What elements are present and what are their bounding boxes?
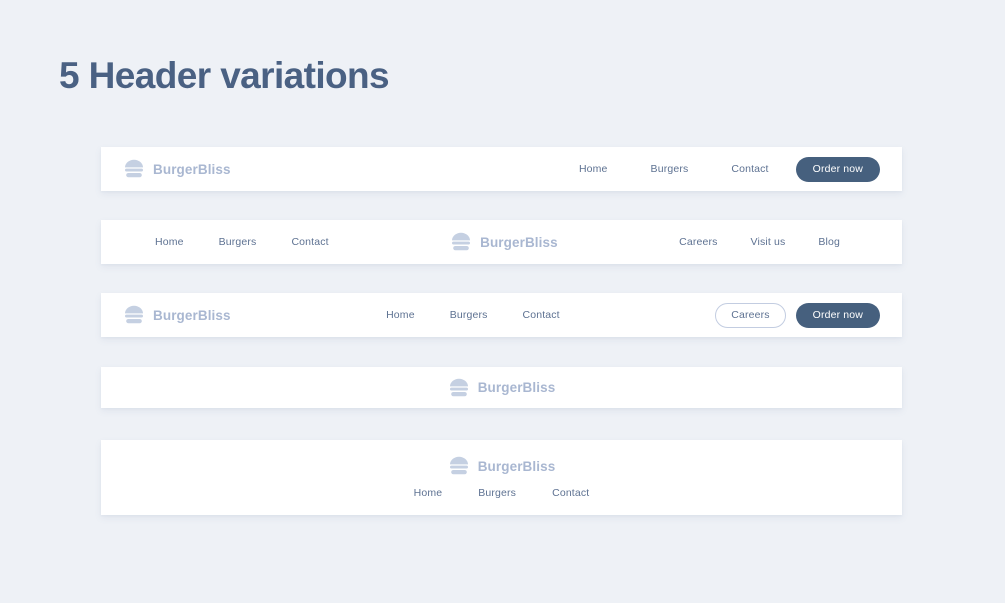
- brand-logo[interactable]: BurgerBliss: [448, 456, 556, 476]
- burger-icon: [448, 456, 470, 476]
- header-3-actions: Careers Order now: [715, 303, 880, 328]
- order-now-button[interactable]: Order now: [796, 303, 880, 328]
- nav-link-burgers[interactable]: Burgers: [219, 236, 257, 248]
- nav-link-burgers[interactable]: Burgers: [478, 487, 516, 499]
- brand-name: BurgerBliss: [153, 162, 231, 177]
- brand-logo[interactable]: BurgerBliss: [123, 305, 231, 325]
- nav-link-burgers[interactable]: Burgers: [651, 163, 689, 175]
- nav-link-contact[interactable]: Contact: [291, 236, 328, 248]
- header-4-row: BurgerBliss: [101, 367, 902, 408]
- nav-link-home[interactable]: Home: [414, 487, 443, 499]
- careers-button[interactable]: Careers: [715, 303, 785, 328]
- header-2-row: Home Burgers Contact BurgerBliss Careers…: [101, 220, 902, 264]
- nav-link-burgers[interactable]: Burgers: [450, 309, 488, 321]
- order-now-button[interactable]: Order now: [796, 157, 880, 182]
- nav-link-home[interactable]: Home: [579, 163, 608, 175]
- burger-icon: [123, 305, 145, 325]
- header-2-left-nav: Home Burgers Contact: [155, 236, 329, 248]
- brand-name: BurgerBliss: [478, 380, 556, 395]
- nav-link-contact[interactable]: Contact: [523, 309, 560, 321]
- page-root: 5 Header variations BurgerBliss Home Bur…: [0, 0, 1005, 603]
- header-2-right-nav: Careers Visit us Blog: [679, 236, 840, 248]
- nav-link-home[interactable]: Home: [155, 236, 184, 248]
- header-3-center-nav: Home Burgers Contact: [386, 309, 560, 321]
- nav-link-visit-us[interactable]: Visit us: [751, 236, 786, 248]
- header-variation-3: BurgerBliss Home Burgers Contact Careers…: [101, 293, 902, 337]
- header-variation-4: BurgerBliss: [101, 367, 902, 408]
- nav-link-contact[interactable]: Contact: [552, 487, 589, 499]
- brand-name: BurgerBliss: [480, 235, 558, 250]
- nav-link-home[interactable]: Home: [386, 309, 415, 321]
- burger-icon: [123, 159, 145, 179]
- nav-link-careers[interactable]: Careers: [679, 236, 717, 248]
- page-title: 5 Header variations: [59, 55, 389, 97]
- brand-name: BurgerBliss: [478, 459, 556, 474]
- header-5-nav: Home Burgers Contact: [414, 487, 590, 499]
- brand-logo[interactable]: BurgerBliss: [123, 159, 231, 179]
- header-5-row: BurgerBliss Home Burgers Contact: [101, 440, 902, 515]
- header-1-nav: Home Burgers Contact: [579, 163, 769, 175]
- header-variation-1: BurgerBliss Home Burgers Contact Order n…: [101, 147, 902, 191]
- header-variation-5: BurgerBliss Home Burgers Contact: [101, 440, 902, 515]
- brand-name: BurgerBliss: [153, 308, 231, 323]
- nav-link-blog[interactable]: Blog: [818, 236, 840, 248]
- header-1-row: BurgerBliss Home Burgers Contact Order n…: [101, 147, 902, 191]
- burger-icon: [448, 378, 470, 398]
- brand-logo[interactable]: BurgerBliss: [448, 378, 556, 398]
- nav-link-contact[interactable]: Contact: [731, 163, 768, 175]
- brand-logo[interactable]: BurgerBliss: [450, 232, 558, 252]
- burger-icon: [450, 232, 472, 252]
- header-3-row: BurgerBliss Home Burgers Contact Careers…: [101, 293, 902, 337]
- header-variation-2: Home Burgers Contact BurgerBliss Careers…: [101, 220, 902, 264]
